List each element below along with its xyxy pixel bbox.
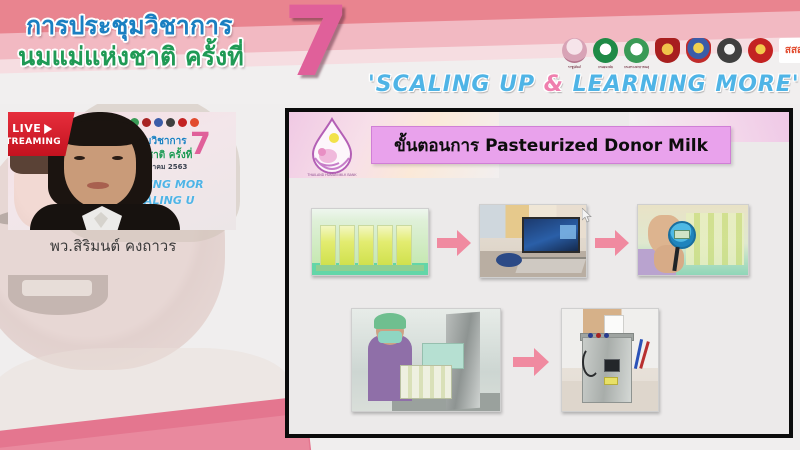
pasteurizer-control-panel xyxy=(604,359,620,372)
poster-logo-7-icon xyxy=(178,118,187,127)
pasteurizer-knob-blue-2 xyxy=(604,333,609,338)
pasteurizer-hose xyxy=(582,347,600,377)
laptop-workstation-photo xyxy=(479,204,587,278)
tagline-ampersand: & xyxy=(544,72,564,97)
pasteurizer-knob-red xyxy=(596,333,601,338)
bottle-rack xyxy=(320,225,336,267)
laptop-keyboard xyxy=(515,257,586,273)
live-streaming-badge: LIVE STREAMING xyxy=(8,112,75,156)
bottle-rack xyxy=(396,225,412,267)
pasteurizer-label-sticker xyxy=(604,377,618,385)
process-arrow-3 xyxy=(513,348,549,376)
poster-edition-number: 7 xyxy=(190,130,211,160)
conference-header-banner: การประชุมวิชาการ นมแม่แห่งชาติ ครั้งที่ … xyxy=(0,0,800,104)
ministry-of-public-health-logo-icon: กรมอนามัย xyxy=(593,38,618,63)
speaker-eye-left xyxy=(74,156,85,160)
pasteurizer-machine-photo xyxy=(561,308,659,412)
logo-caption: กระทรวงสาธารณสุข xyxy=(624,65,649,70)
logo-caption: ราชูปถัมภ์ xyxy=(562,65,587,70)
slide-screenshot: การประชุมวิชาการ นมแม่แห่งชาติ ครั้งที่ … xyxy=(0,0,800,450)
live-badge-row: LIVE xyxy=(12,122,52,135)
thaihealth-label: สสส xyxy=(785,46,800,56)
streaming-label: STREAMING xyxy=(8,137,61,147)
poster-logo-6-icon xyxy=(166,118,175,127)
process-arrow-2 xyxy=(595,230,629,256)
milk-bottle-crate xyxy=(400,365,452,399)
human-milk-bank-logo-icon: THAILAND HUMAN MILK BANK xyxy=(301,116,363,178)
nurse-face-mask xyxy=(378,331,402,343)
logo-caption: กรมอนามัย xyxy=(593,65,618,70)
poster-logo-8-icon xyxy=(190,118,199,127)
royal-college-emblem-icon xyxy=(686,38,711,63)
live-label: LIVE xyxy=(12,122,41,135)
process-arrow-1 xyxy=(437,230,471,256)
department-of-health-logo-icon: กระทรวงสาธารณสุข xyxy=(624,38,649,63)
photo-hand-lower xyxy=(654,245,684,273)
speaker-name-label: พว.สิริมนต์ คงถาวร xyxy=(50,234,176,258)
bottle-rack xyxy=(339,225,355,267)
mouse-cursor xyxy=(582,208,593,223)
poster-logo-5-icon xyxy=(154,118,163,127)
slide-title: ขั้นตอนการ Pasteurized Donor Milk xyxy=(394,132,708,159)
thermometer-check-photo xyxy=(637,204,749,276)
milk-bottle-racks-photo xyxy=(311,208,429,276)
presentation-slide-panel[interactable]: THAILAND HUMAN MILK BANK ขั้นตอนการ Past… xyxy=(285,108,793,438)
pasteurizer-knob-blue xyxy=(588,333,593,338)
speaker-video-feed[interactable]: การประชุมวิชาการ นมแม่แห่งชาติ ครั้งที่ … xyxy=(8,112,236,230)
national-institute-seal-icon xyxy=(748,38,773,63)
laptop-screen-window xyxy=(560,225,576,239)
university-seal-logo-icon xyxy=(717,38,742,63)
conference-title-line2: นมแม่แห่งชาติ ครั้งที่ xyxy=(18,37,244,77)
sponsor-logo-row: ราชูปถัมภ์ กรมอนามัย กระทรวงสาธารณสุข สส… xyxy=(562,27,800,63)
poster-logo-4-icon xyxy=(142,118,151,127)
tagline-prefix: 'SCALING UP xyxy=(368,72,544,97)
play-icon xyxy=(44,123,52,133)
thaihealth-logo-icon: สสส xyxy=(779,38,800,63)
nurse-loading-bottles-photo xyxy=(351,308,501,412)
speaker-eye-right xyxy=(112,156,123,160)
logo-caption-text: THAILAND HUMAN MILK BANK xyxy=(307,173,357,177)
slide-title-banner: ขั้นตอนการ Pasteurized Donor Milk xyxy=(371,126,731,164)
thermometer-display xyxy=(674,230,690,239)
watermark-teeth xyxy=(22,280,92,296)
speaker-lips xyxy=(87,182,109,189)
computer-mouse xyxy=(496,253,522,267)
conference-tagline: 'SCALING UP & LEARNING MORE' xyxy=(368,72,800,97)
edition-number: 7 xyxy=(283,0,350,90)
nurse-surgical-cap xyxy=(374,313,406,329)
royal-patron-emblem-icon: ราชูปถัมภ์ xyxy=(562,38,587,63)
bottle-rack xyxy=(358,225,374,267)
tagline-suffix: LEARNING MORE' xyxy=(564,72,800,97)
photo-shelf xyxy=(316,265,424,271)
thai-red-cross-emblem-icon xyxy=(655,38,680,63)
bottle-rack xyxy=(377,225,393,267)
